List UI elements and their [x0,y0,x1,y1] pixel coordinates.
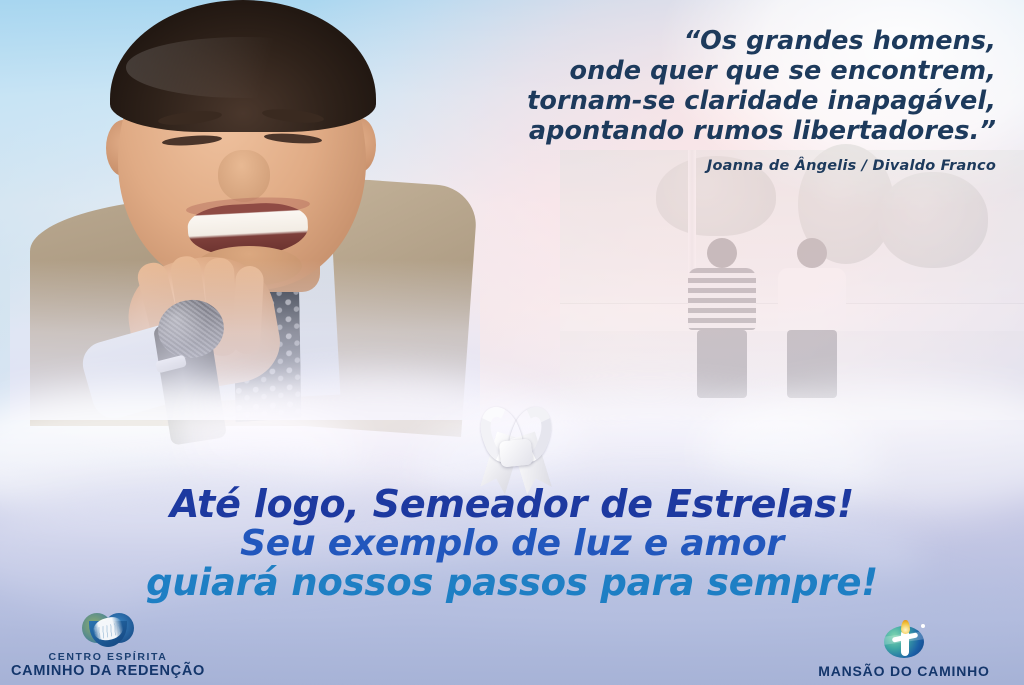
headline-line-3: guiará nossos passos para sempre! [0,563,1024,603]
poster-canvas: “Os grandes homens, onde quer que se enc… [0,0,1024,685]
quote-line-2: onde quer que se encontrem, [436,56,996,86]
ribbon-knot [499,438,534,467]
logo-centro-espirita-line1: CENTRO ESPÍRITA [8,651,208,663]
quote-line-1: “Os grandes homens, [436,26,996,56]
portrait-hair [110,0,376,132]
quote-block: “Os grandes homens, onde quer que se enc… [436,26,996,174]
logo-mansao-do-caminho: MANSÃO DO CAMINHO [794,622,1014,679]
background-photo [560,150,1024,420]
quote-line-3: tornam-se claridade inapagável, [436,86,996,116]
background-photo-tree [878,172,988,268]
headline-line-2: Seu exemplo de luz e amor [0,525,1024,564]
portrait-bottom-fade [10,260,480,420]
logo-centro-espirita: CENTRO ESPÍRITA CAMINHO DA REDENÇÃO [8,613,208,679]
headline-block: Até logo, Semeador de Estrelas! Seu exem… [0,484,1024,603]
globe-figure-flame-icon [880,622,928,660]
logo-mansao-do-caminho-label: MANSÃO DO CAMINHO [794,663,1014,679]
portrait-nose [218,150,270,202]
logo-centro-espirita-line2: CAMINHO DA REDENÇÃO [8,663,208,679]
quote-attribution: Joanna de Ângelis / Divaldo Franco [436,158,996,174]
headline-line-1: Até logo, Semeador de Estrelas! [0,484,1024,525]
heart-hands-icon [82,613,134,647]
white-ribbon-icon [480,406,552,492]
background-photo-person [688,238,756,398]
portrait-divaldo-franco [10,0,480,420]
background-photo-person [778,238,846,398]
quote-line-4: apontando rumos libertadores.” [436,116,996,146]
